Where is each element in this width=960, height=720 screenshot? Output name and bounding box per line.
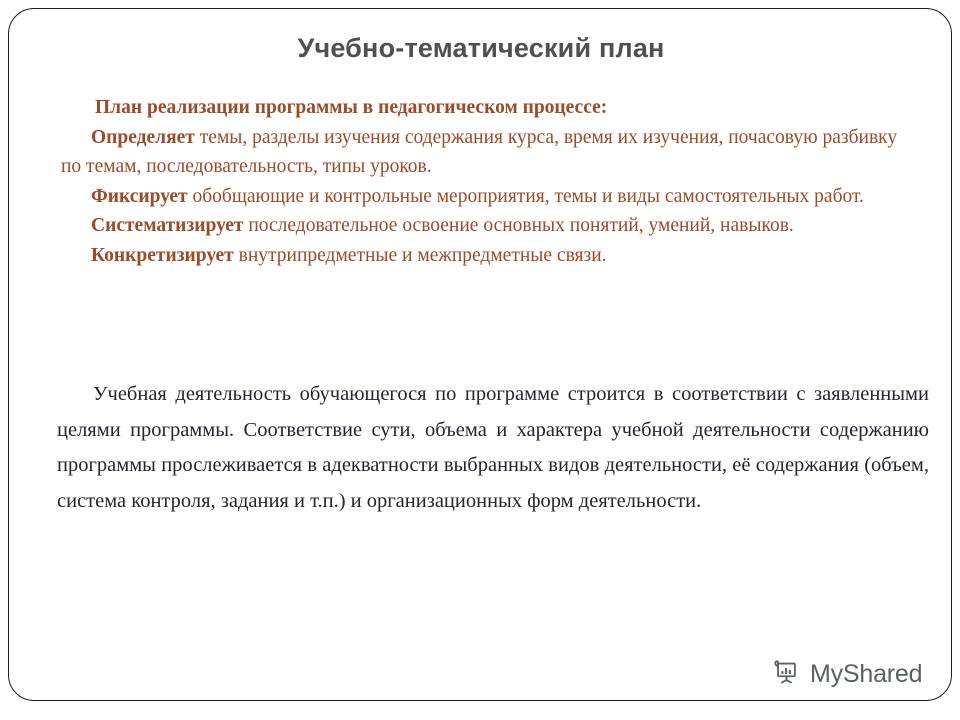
brown-item-lead: Систематизирует xyxy=(91,215,243,236)
brown-item-lead: Конкретизирует xyxy=(91,245,234,266)
myshared-watermark: MyShared xyxy=(771,657,922,692)
brown-item-fiksiruet: Фиксирует обобщающие и контрольные мероп… xyxy=(61,182,917,212)
slide-canvas: Учебно-тематический план План реализации… xyxy=(8,8,952,701)
presentation-board-icon xyxy=(771,657,801,692)
program-implementation-block: План реализации программы в педагогическ… xyxy=(61,93,917,270)
brown-item-rest: внутрипредметные и межпредметные связи. xyxy=(234,245,607,266)
page-title: Учебно-тематический план xyxy=(9,33,952,64)
brown-heading-line: План реализации программы в педагогическ… xyxy=(61,93,917,123)
brown-item-sistematiziruet: Систематизирует последовательное освоени… xyxy=(61,211,917,241)
myshared-brand-text: MyShared xyxy=(810,660,922,689)
brown-heading-text: План реализации программы в педагогическ… xyxy=(61,93,917,123)
body-paragraph: Учебная деятельность обучающегося по про… xyxy=(57,377,929,519)
brown-item-opredelyaet: Определяет темы, разделы изучения содерж… xyxy=(61,123,917,182)
brown-item-lead: Фиксирует xyxy=(91,186,188,207)
brown-item-rest: обобщающие и контрольные мероприятия, те… xyxy=(188,186,864,207)
brown-item-lead: Определяет xyxy=(91,127,195,148)
brown-item-rest: последовательное освоение основных понят… xyxy=(243,215,793,236)
brown-item-konkretiziruet: Конкретизирует внутрипредметные и межпре… xyxy=(61,241,917,271)
